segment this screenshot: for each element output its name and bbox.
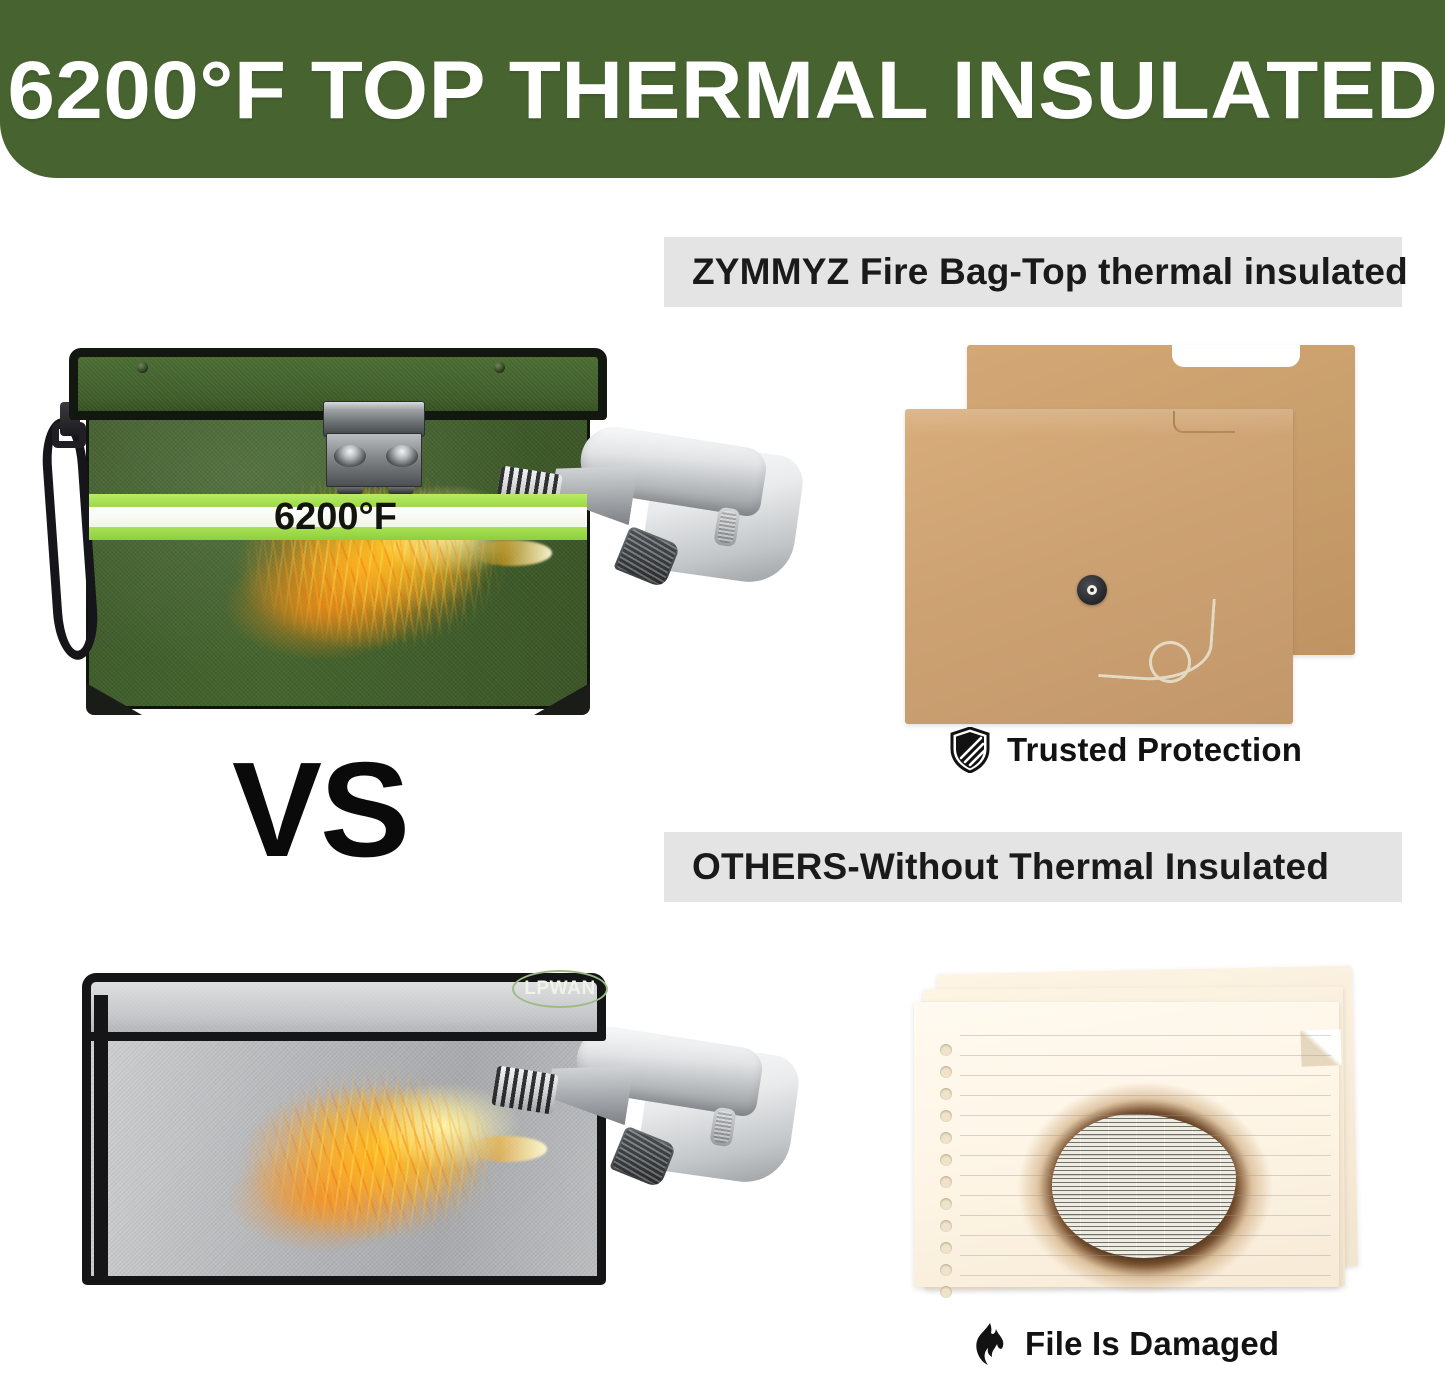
clasp-button-right — [386, 445, 418, 467]
header-banner: 6200°F TOP THERMAL INSULATED — [0, 0, 1445, 178]
punch-hole — [940, 1088, 952, 1100]
gray-bag-side-seam — [94, 995, 108, 1285]
punch-hole — [940, 1286, 952, 1298]
caption-trusted-protection: Trusted Protection — [950, 727, 1302, 773]
exposed-newsprint — [1052, 1114, 1236, 1258]
caption-good-text: Trusted Protection — [1007, 731, 1302, 769]
charred-edge — [1018, 1082, 1272, 1294]
clasp-button-left — [334, 445, 366, 467]
clasp-foot-right — [388, 487, 414, 494]
punch-hole — [940, 1066, 952, 1078]
punch-hole — [940, 1242, 952, 1254]
punch-hole — [940, 1132, 952, 1144]
vs-separator-label: VS — [232, 742, 408, 877]
label-bad-text: OTHERS-Without Thermal Insulated — [664, 846, 1329, 888]
brand-logo-text: LPWAN — [524, 978, 596, 1000]
shield-icon — [950, 727, 990, 773]
paper-folded-corner — [1300, 1029, 1341, 1066]
flame-icon — [972, 1322, 1008, 1366]
burn-hole — [1034, 1098, 1256, 1278]
brand-logo-badge: LPWAN — [512, 970, 608, 1008]
kraft-envelope-seam — [1173, 411, 1235, 433]
label-good-text: ZYMMYZ Fire Bag-Top thermal insulated — [664, 251, 1408, 293]
punch-hole-column — [940, 1044, 954, 1306]
kraft-document-envelopes — [905, 345, 1355, 730]
butane-torch-lower — [476, 1018, 806, 1318]
label-bar-other-product: OTHERS-Without Thermal Insulated — [664, 832, 1402, 902]
burned-lined-paper-stack — [900, 970, 1360, 1300]
torch-nozzle — [491, 1065, 558, 1114]
kraft-envelope-back-notch — [1172, 345, 1300, 367]
label-bar-good-product: ZYMMYZ Fire Bag-Top thermal insulated — [664, 237, 1402, 307]
punch-hole — [940, 1044, 952, 1056]
bag-temperature-print: 6200°F — [274, 496, 397, 539]
product-comparison-infographic: 6200°F TOP THERMAL INSULATED ZYMMYZ Fire… — [0, 0, 1445, 1379]
flap-rivet-left — [137, 362, 148, 373]
punch-hole — [940, 1110, 952, 1122]
punch-hole — [940, 1154, 952, 1166]
punch-hole — [940, 1198, 952, 1210]
butane-torch-upper — [480, 418, 810, 718]
metal-clasp-upper — [323, 401, 425, 437]
page-title: 6200°F TOP THERMAL INSULATED — [7, 40, 1438, 138]
caption-file-damaged: File Is Damaged — [972, 1322, 1279, 1366]
caption-bad-text: File Is Damaged — [1025, 1325, 1279, 1363]
punch-hole — [940, 1264, 952, 1276]
punch-hole — [940, 1176, 952, 1188]
punch-hole — [940, 1220, 952, 1232]
flap-rivet-right — [494, 362, 505, 373]
clasp-foot-left — [337, 487, 363, 494]
paper-sheet-front — [914, 1002, 1339, 1287]
